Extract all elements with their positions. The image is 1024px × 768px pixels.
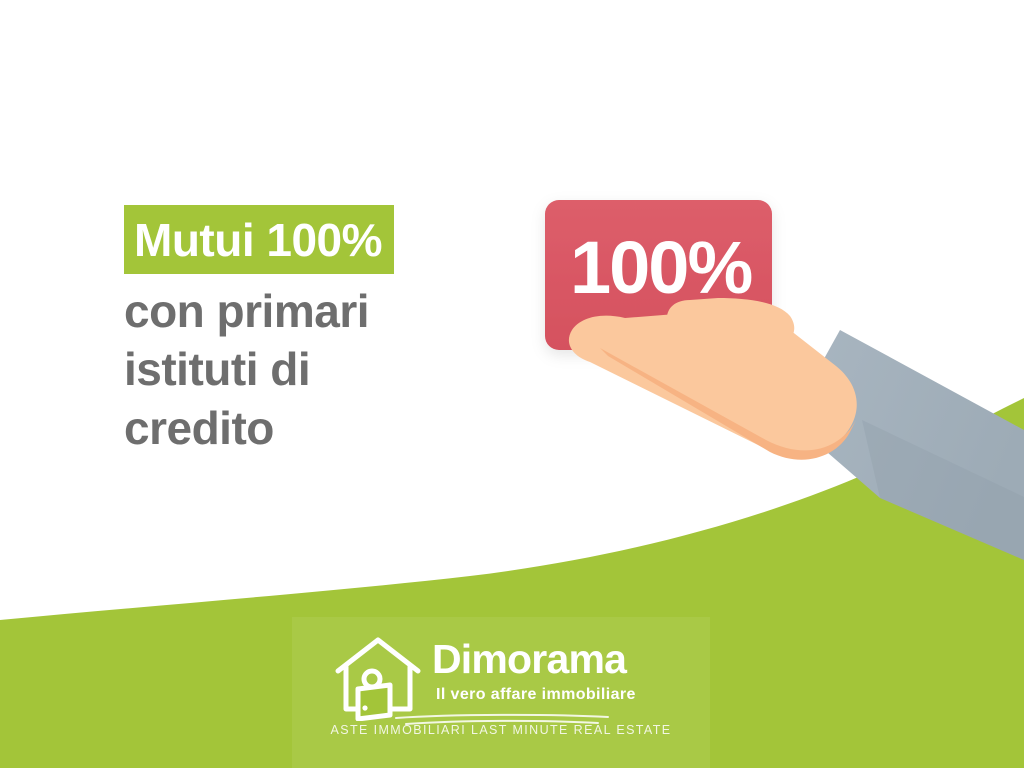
logo-name: Dimorama — [432, 639, 710, 680]
logo-services-line: ASTE IMMOBILIARI LAST MINUTE REAL ESTATE — [292, 723, 710, 737]
door-knob-icon — [362, 705, 367, 710]
dimorama-logo[interactable]: Dimorama Il vero affare immobiliare ASTE… — [292, 617, 710, 768]
house-open-door — [358, 685, 390, 719]
banner-canvas: Mutui 100% con primari istituti di credi… — [0, 0, 1024, 768]
percent-card-label: 100% — [570, 226, 751, 309]
house-with-open-door-outline-icon — [332, 635, 424, 721]
open-hand — [569, 298, 857, 460]
rule-line-upper — [396, 715, 608, 718]
logo-tagline: Il vero affare immobiliare — [436, 686, 710, 704]
house-outline — [338, 640, 418, 671]
logo-wordmark: Dimorama Il vero affare immobiliare — [432, 639, 710, 704]
